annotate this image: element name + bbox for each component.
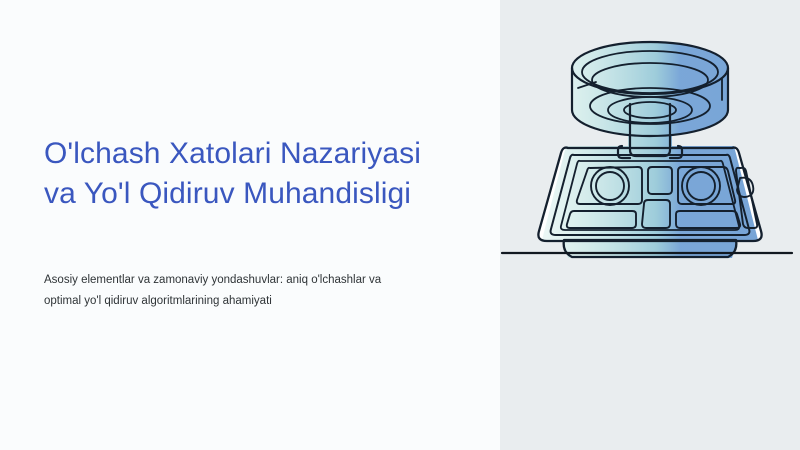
- slide-title: O'lchash Xatolari Nazariyasi va Yo'l Qid…: [44, 134, 464, 214]
- illustration-panel: [500, 0, 800, 450]
- measuring-scale-icon: [500, 0, 800, 450]
- slide-subtitle: Asosiy elementlar va zamonaviy yondashuv…: [44, 270, 444, 313]
- text-panel: O'lchash Xatolari Nazariyasi va Yo'l Qid…: [0, 0, 500, 450]
- presentation-slide: O'lchash Xatolari Nazariyasi va Yo'l Qid…: [0, 0, 800, 450]
